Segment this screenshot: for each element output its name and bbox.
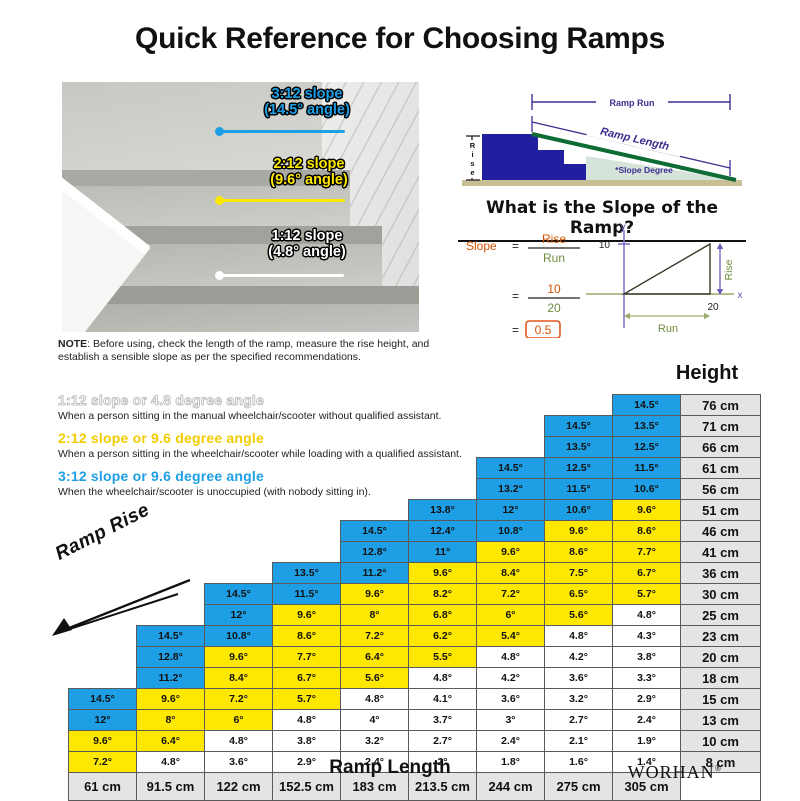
table-cell-empty	[477, 395, 545, 416]
table-cell-angle[interactable]: 8.6°	[545, 542, 613, 563]
table-cell-empty	[205, 416, 273, 437]
graph-y-label: y	[621, 224, 626, 233]
slope-label-1-12-line2: (4.8° angle)	[212, 244, 402, 260]
table-cell-empty	[273, 521, 341, 542]
table-cell-angle[interactable]: 5.4°	[477, 626, 545, 647]
table-cell-angle[interactable]: 4.3°	[613, 626, 681, 647]
table-cell-height: 66 cm	[681, 437, 761, 458]
table-row: 13.8°12°10.6°9.6°51 cm	[69, 500, 761, 521]
table-cell-angle[interactable]: 4.8°	[137, 752, 205, 773]
graph-run-arrowhead-right	[704, 313, 710, 319]
table-cell-angle[interactable]: 13.5°	[545, 437, 613, 458]
table-row: 12°9.6°8°6.8°6°5.6°4.8°25 cm	[69, 605, 761, 626]
table-cell-empty	[69, 500, 137, 521]
table-cell-height: 46 cm	[681, 521, 761, 542]
table-cell-empty	[137, 479, 205, 500]
worhan-logo: WORHAN®	[600, 762, 750, 783]
table-cell-angle[interactable]: 3°	[477, 710, 545, 731]
table-cell-angle[interactable]: 11.2°	[341, 563, 409, 584]
table-row: 14.5°9.6°7.2°5.7°4.8°4.1°3.6°3.2°2.9°15 …	[69, 689, 761, 710]
table-cell-angle[interactable]: 12.5°	[545, 458, 613, 479]
table-cell-angle[interactable]: 4.8°	[273, 710, 341, 731]
table-cell-angle[interactable]: 14.5°	[137, 626, 205, 647]
table-cell-empty	[137, 437, 205, 458]
graph-rise-label: Rise	[723, 259, 735, 280]
table-cell-empty	[69, 542, 137, 563]
table-cell-empty	[273, 458, 341, 479]
table-cell-angle[interactable]: 14.5°	[341, 521, 409, 542]
registered-mark-icon: ®	[715, 763, 723, 773]
note-text: NOTE: Before using, check the length of …	[58, 338, 458, 363]
table-row: 12.8°9.6°7.7°6.4°5.5°4.8°4.2°3.8°20 cm	[69, 647, 761, 668]
table-cell-empty	[137, 542, 205, 563]
table-cell-empty	[69, 563, 137, 584]
slope-leader-1-12	[222, 274, 344, 277]
table-cell-height: 61 cm	[681, 458, 761, 479]
table-cell-angle[interactable]: 3.2°	[545, 689, 613, 710]
graph-run-label: Run	[658, 323, 678, 335]
diagram-step-mid	[538, 150, 564, 180]
graph-run-arrowhead-left	[624, 313, 630, 319]
table-row: 12°8°6°4.8°4°3.7°3°2.7°2.4°13 cm	[69, 710, 761, 731]
table-cell-angle[interactable]: 3.2°	[341, 731, 409, 752]
table-row: 14.5°10.8°8.6°7.2°6.2°5.4°4.8°4.3°23 cm	[69, 626, 761, 647]
table-cell-angle[interactable]: 9.6°	[341, 584, 409, 605]
table-cell-empty	[137, 395, 205, 416]
table-cell-height: 56 cm	[681, 479, 761, 500]
table-cell-empty	[341, 416, 409, 437]
table-cell-empty	[69, 584, 137, 605]
table-cell-angle[interactable]: 2.7°	[545, 710, 613, 731]
ramp-reference-table[interactable]: 14.5°76 cm14.5°13.5°71 cm13.5°12.5°66 cm…	[68, 394, 761, 801]
slope-label-3-12-line1: 3:12 slope	[212, 86, 402, 102]
table-cell-empty	[69, 626, 137, 647]
stairs-photo: 3:12 slope (14.5° angle) 2:12 slope (9.6…	[62, 82, 419, 332]
slope-label-1-12: 1:12 slope (4.8° angle)	[212, 228, 402, 260]
table-cell-angle[interactable]: 8.6°	[273, 626, 341, 647]
table-cell-angle[interactable]: 3.3°	[613, 668, 681, 689]
graph-x-label: x	[738, 290, 743, 301]
table-row: 13.5°12.5°66 cm	[69, 437, 761, 458]
slope-formula-block: What is the Slope of the Ramp? Slope = R…	[458, 198, 746, 338]
slope-degree-label: *Slope Degree	[615, 165, 673, 175]
table-cell-empty	[409, 458, 477, 479]
slope-label-3-12-line2: (14.5° angle)	[212, 102, 402, 118]
fraction-run: Run	[543, 251, 565, 265]
table-cell-angle[interactable]: 14.5°	[69, 689, 137, 710]
table-cell-empty	[137, 521, 205, 542]
table-cell-angle[interactable]: 12°	[69, 710, 137, 731]
table-cell-empty	[69, 521, 137, 542]
table-cell-empty	[273, 437, 341, 458]
table-cell-height: 30 cm	[681, 584, 761, 605]
table-cell-empty	[137, 584, 205, 605]
table-row: 14.5°12.5°11.5°61 cm	[69, 458, 761, 479]
table-cell-angle[interactable]: 6.5°	[545, 584, 613, 605]
table-cell-empty	[341, 479, 409, 500]
table-cell-angle[interactable]: 7.7°	[273, 647, 341, 668]
table-cell-empty	[205, 563, 273, 584]
slope-formula-figure: Slope = Rise Run = 10 20 = 0.5 y x 10 20…	[458, 224, 746, 338]
table-cell-angle[interactable]: 4.8°	[545, 626, 613, 647]
table-cell-angle[interactable]: 3.8°	[613, 647, 681, 668]
table-cell-height: 10 cm	[681, 731, 761, 752]
table-row: 14.5°76 cm	[69, 395, 761, 416]
table-cell-angle[interactable]: 6°	[205, 710, 273, 731]
slope-dot-2-12	[215, 196, 224, 205]
table-cell-angle[interactable]: 10.8°	[205, 626, 273, 647]
table-cell-angle[interactable]: 4.8°	[205, 731, 273, 752]
table-cell-empty	[137, 416, 205, 437]
height-axis-title: Height	[662, 362, 752, 385]
table-cell-angle[interactable]: 13.5°	[613, 416, 681, 437]
table-cell-empty	[273, 416, 341, 437]
table-cell-empty	[137, 563, 205, 584]
table-cell-angle[interactable]: 8.2°	[409, 584, 477, 605]
table-row: 14.5°13.5°71 cm	[69, 416, 761, 437]
graph-triangle	[624, 244, 710, 294]
table-cell-angle[interactable]: 8.6°	[613, 521, 681, 542]
table-cell-angle[interactable]: 4.8°	[409, 668, 477, 689]
table-cell-empty	[69, 458, 137, 479]
rise-letter-s: s	[470, 159, 474, 168]
table-row: 13.2°11.5°10.6°56 cm	[69, 479, 761, 500]
table-cell-empty	[137, 605, 205, 626]
table-cell-angle[interactable]: 7.2°	[477, 584, 545, 605]
table-cell-angle[interactable]: 3.8°	[273, 731, 341, 752]
table-row: 9.6°6.4°4.8°3.8°3.2°2.7°2.4°2.1°1.9°10 c…	[69, 731, 761, 752]
table-cell-angle[interactable]: 6.4°	[341, 647, 409, 668]
slope-label-2-12: 2:12 slope (9.6° angle)	[214, 156, 404, 188]
table-cell-empty	[409, 416, 477, 437]
diagram-ground	[462, 180, 742, 186]
table-cell-angle[interactable]: 5.6°	[341, 668, 409, 689]
table-cell-empty	[409, 395, 477, 416]
table-cell-empty	[409, 437, 477, 458]
table-cell-angle[interactable]: 2.4°	[477, 731, 545, 752]
slope-label-1-12-line1: 1:12 slope	[212, 228, 402, 244]
table-cell-angle[interactable]: 12°	[477, 500, 545, 521]
table-cell-angle[interactable]: 12.4°	[409, 521, 477, 542]
table-cell-height: 25 cm	[681, 605, 761, 626]
table-cell-empty	[477, 416, 545, 437]
slope-equals-2: =	[512, 289, 519, 303]
table-cell-empty	[69, 416, 137, 437]
fraction-rise: Rise	[542, 232, 566, 246]
table-cell-empty	[205, 458, 273, 479]
ramp-run-length-diagram: Ramp Run Ramp Length R i s e *Slope Degr…	[458, 84, 746, 194]
table-cell-empty	[69, 647, 137, 668]
table-cell-height: 41 cm	[681, 542, 761, 563]
table-cell-empty	[273, 542, 341, 563]
table-cell-empty	[545, 395, 613, 416]
page-title: Quick Reference for Choosing Ramps	[0, 22, 800, 56]
table-cell-angle[interactable]: 10.8°	[477, 521, 545, 542]
table-cell-angle[interactable]: 5.7°	[273, 689, 341, 710]
table-cell-angle[interactable]: 2.7°	[409, 731, 477, 752]
slope-word: Slope	[466, 239, 497, 253]
table-cell-empty	[341, 395, 409, 416]
table-cell-empty	[477, 437, 545, 458]
table-cell-angle[interactable]: 12.5°	[613, 437, 681, 458]
table-cell-angle[interactable]: 11.5°	[545, 479, 613, 500]
table-cell-angle[interactable]: 4.1°	[409, 689, 477, 710]
photo-step1-tread	[62, 304, 419, 332]
table-cell-empty	[205, 437, 273, 458]
table-cell-empty	[341, 458, 409, 479]
table-cell-angle[interactable]: 8°	[137, 710, 205, 731]
slope-label-2-12-line2: (9.6° angle)	[214, 172, 404, 188]
table-cell-angle[interactable]: 5.6°	[545, 605, 613, 626]
slope-result: 0.5	[535, 323, 552, 337]
table-cell-empty	[69, 605, 137, 626]
table-cell-angle[interactable]: 9.6°	[409, 563, 477, 584]
table-cell-angle[interactable]: 7.2°	[69, 752, 137, 773]
table-cell-angle[interactable]: 13.5°	[273, 563, 341, 584]
table-cell-height: 76 cm	[681, 395, 761, 416]
table-cell-angle[interactable]: 7.2°	[341, 626, 409, 647]
table-cell-height: 18 cm	[681, 668, 761, 689]
table-cell-height: 23 cm	[681, 626, 761, 647]
table-row: 14.5°12.4°10.8°9.6°8.6°46 cm	[69, 521, 761, 542]
table-cell-height: 20 cm	[681, 647, 761, 668]
slope-equals-3: =	[512, 323, 519, 337]
slope-dot-1-12	[215, 271, 224, 280]
table-cell-angle[interactable]: 5.5°	[409, 647, 477, 668]
diagram-step-low	[564, 164, 586, 180]
table-cell-angle[interactable]: 12°	[205, 605, 273, 626]
table-cell-height: 15 cm	[681, 689, 761, 710]
table-cell-angle[interactable]: 9.6°	[137, 689, 205, 710]
table-cell-angle[interactable]: 13.8°	[409, 500, 477, 521]
slope-leader-2-12	[222, 199, 345, 202]
table-cell-height: 13 cm	[681, 710, 761, 731]
table-cell-angle[interactable]: 11.2°	[137, 668, 205, 689]
table-cell-empty	[205, 479, 273, 500]
table-cell-empty	[205, 542, 273, 563]
note-body: : Before using, check the length of the …	[58, 338, 429, 363]
table-cell-angle[interactable]: 12.8°	[137, 647, 205, 668]
table-cell-empty	[205, 500, 273, 521]
table-cell-angle[interactable]: 14.5°	[205, 584, 273, 605]
graph-rise-arrowhead-up	[717, 243, 723, 249]
slope-label-3-12: 3:12 slope (14.5° angle)	[212, 86, 402, 118]
rise-letter-i: i	[471, 150, 473, 159]
table-cell-angle[interactable]: 14.5°	[613, 395, 681, 416]
graph-tick-x: 20	[707, 302, 719, 313]
table-cell-height: 71 cm	[681, 416, 761, 437]
table-row: 11.2°8.4°6.7°5.6°4.8°4.2°3.6°3.3°18 cm	[69, 668, 761, 689]
table-cell-angle[interactable]: 6.8°	[409, 605, 477, 626]
table-cell-angle[interactable]: 7.5°	[545, 563, 613, 584]
table-cell-length: 61 cm	[69, 773, 137, 801]
table-cell-empty	[273, 500, 341, 521]
table-cell-angle[interactable]: 8.4°	[205, 668, 273, 689]
slope-label-2-12-line1: 2:12 slope	[214, 156, 404, 172]
ramp-table-body: 14.5°76 cm14.5°13.5°71 cm13.5°12.5°66 cm…	[69, 395, 761, 801]
table-cell-empty	[409, 479, 477, 500]
table-cell-angle[interactable]: 11.5°	[613, 458, 681, 479]
table-cell-angle[interactable]: 11°	[409, 542, 477, 563]
table-cell-angle[interactable]: 4.2°	[477, 668, 545, 689]
table-cell-empty	[341, 500, 409, 521]
table-cell-empty	[137, 500, 205, 521]
table-row: 13.5°11.2°9.6°8.4°7.5°6.7°36 cm	[69, 563, 761, 584]
table-cell-empty	[273, 395, 341, 416]
table-cell-empty	[69, 479, 137, 500]
table-cell-length: 91.5 cm	[137, 773, 205, 801]
slope-leader-3-12	[222, 130, 345, 133]
note-bold-prefix: NOTE	[58, 338, 87, 350]
table-cell-angle[interactable]: 13.2°	[477, 479, 545, 500]
table-cell-angle[interactable]: 9.6°	[273, 605, 341, 626]
table-cell-angle[interactable]: 2.4°	[613, 710, 681, 731]
table-cell-empty	[137, 458, 205, 479]
table-cell-empty	[69, 668, 137, 689]
table-cell-angle[interactable]: 9.6°	[477, 542, 545, 563]
table-cell-angle[interactable]: 11.5°	[273, 584, 341, 605]
table-cell-angle[interactable]: 2.9°	[613, 689, 681, 710]
table-cell-empty	[205, 521, 273, 542]
table-cell-angle[interactable]: 12.8°	[341, 542, 409, 563]
table-cell-angle[interactable]: 6.7°	[613, 563, 681, 584]
table-cell-angle[interactable]: 4.8°	[341, 689, 409, 710]
rise-letter-e: e	[470, 168, 474, 177]
table-cell-empty	[341, 437, 409, 458]
table-cell-angle[interactable]: 6°	[477, 605, 545, 626]
table-cell-angle[interactable]: 5.7°	[613, 584, 681, 605]
table-cell-angle[interactable]: 7.2°	[205, 689, 273, 710]
table-cell-angle[interactable]: 6.7°	[273, 668, 341, 689]
table-row: 14.5°11.5°9.6°8.2°7.2°6.5°5.7°30 cm	[69, 584, 761, 605]
table-cell-empty	[69, 437, 137, 458]
table-cell-angle[interactable]: 7.7°	[613, 542, 681, 563]
table-cell-angle[interactable]: 9.6°	[69, 731, 137, 752]
fraction-denominator: 20	[547, 301, 561, 315]
table-cell-empty	[69, 395, 137, 416]
table-cell-angle[interactable]: 1.9°	[613, 731, 681, 752]
table-cell-angle[interactable]: 2.1°	[545, 731, 613, 752]
table-cell-angle[interactable]: 3.6°	[545, 668, 613, 689]
ramp-run-label: Ramp Run	[610, 98, 655, 108]
table-cell-angle[interactable]: 9.6°	[613, 500, 681, 521]
table-cell-height: 36 cm	[681, 563, 761, 584]
worhan-wordmark: WORHAN	[628, 762, 715, 782]
table-cell-angle[interactable]: 3.7°	[409, 710, 477, 731]
graph-tick-y: 10	[599, 240, 611, 251]
table-cell-height: 51 cm	[681, 500, 761, 521]
table-cell-angle[interactable]: 14.5°	[545, 416, 613, 437]
ramp-length-axis-title: Ramp Length	[240, 757, 540, 779]
diagram-step-top	[482, 134, 538, 180]
table-cell-empty	[273, 479, 341, 500]
table-cell-angle[interactable]: 4.2°	[545, 647, 613, 668]
table-cell-angle[interactable]: 9.6°	[545, 521, 613, 542]
table-cell-empty	[205, 395, 273, 416]
table-cell-angle[interactable]: 10.6°	[613, 479, 681, 500]
table-cell-angle[interactable]: 6.4°	[137, 731, 205, 752]
table-cell-angle[interactable]: 4.8°	[613, 605, 681, 626]
table-cell-angle[interactable]: 8.4°	[477, 563, 545, 584]
table-cell-angle[interactable]: 10.6°	[545, 500, 613, 521]
slope-equals-1: =	[512, 239, 519, 253]
fraction-numerator: 10	[547, 282, 561, 296]
table-cell-angle[interactable]: 4°	[341, 710, 409, 731]
slope-dot-3-12	[215, 127, 224, 136]
ramp-length-label: Ramp Length	[599, 126, 670, 154]
rise-letter-r: R	[470, 141, 476, 150]
table-row: 12.8°11°9.6°8.6°7.7°41 cm	[69, 542, 761, 563]
table-cell-angle[interactable]: 4.8°	[477, 647, 545, 668]
table-cell-angle[interactable]: 3.6°	[477, 689, 545, 710]
table-cell-angle[interactable]: 9.6°	[205, 647, 273, 668]
table-cell-angle[interactable]: 14.5°	[477, 458, 545, 479]
table-cell-angle[interactable]: 6.2°	[409, 626, 477, 647]
table-cell-angle[interactable]: 8°	[341, 605, 409, 626]
